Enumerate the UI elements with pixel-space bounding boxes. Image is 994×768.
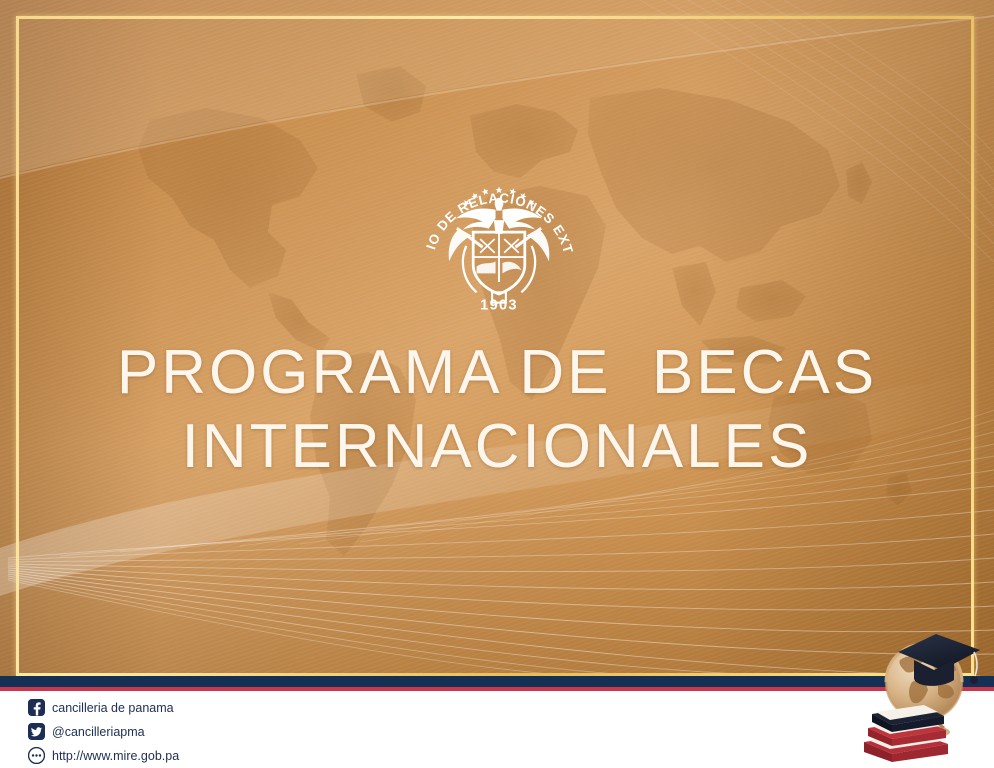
top-swoosh: [0, 0, 994, 176]
poster-title: PROGRAMA DE BECAS INTERNACIONALES: [0, 336, 994, 484]
poster-artwork: MINISTERIO DE RELACIONES EXTERIORES 1903: [0, 0, 994, 676]
ministry-seal: MINISTERIO DE RELACIONES EXTERIORES 1903: [413, 153, 585, 325]
seal-shield: [473, 232, 525, 303]
top-right-arc-texture: [640, 0, 994, 262]
title-line-1: PROGRAMA DE BECAS: [0, 336, 994, 410]
navy-divider-band: [0, 676, 994, 687]
poster-root: MINISTERIO DE RELACIONES EXTERIORES 1903: [0, 0, 994, 768]
facebook-label: cancilleria de panama: [52, 701, 174, 715]
website-icon[interactable]: [28, 747, 45, 764]
social-row-website[interactable]: http://www.mire.gob.pa: [28, 744, 179, 767]
twitter-icon[interactable]: [28, 723, 45, 740]
education-graphic: [862, 608, 994, 768]
social-links-list: cancilleria de panama @cancilleriapma: [28, 696, 179, 768]
stacked-books-graphic: [864, 705, 948, 762]
twitter-label: @cancilleriapma: [52, 725, 145, 739]
website-label: http://www.mire.gob.pa: [52, 749, 179, 763]
facebook-icon[interactable]: [28, 699, 45, 716]
social-row-facebook[interactable]: cancilleria de panama: [28, 696, 179, 719]
social-row-twitter[interactable]: @cancilleriapma: [28, 720, 179, 743]
poster-footer: cancilleria de panama @cancilleriapma: [0, 691, 994, 768]
seal-year: 1903: [480, 298, 518, 314]
title-line-2: INTERNACIONALES: [0, 410, 994, 484]
